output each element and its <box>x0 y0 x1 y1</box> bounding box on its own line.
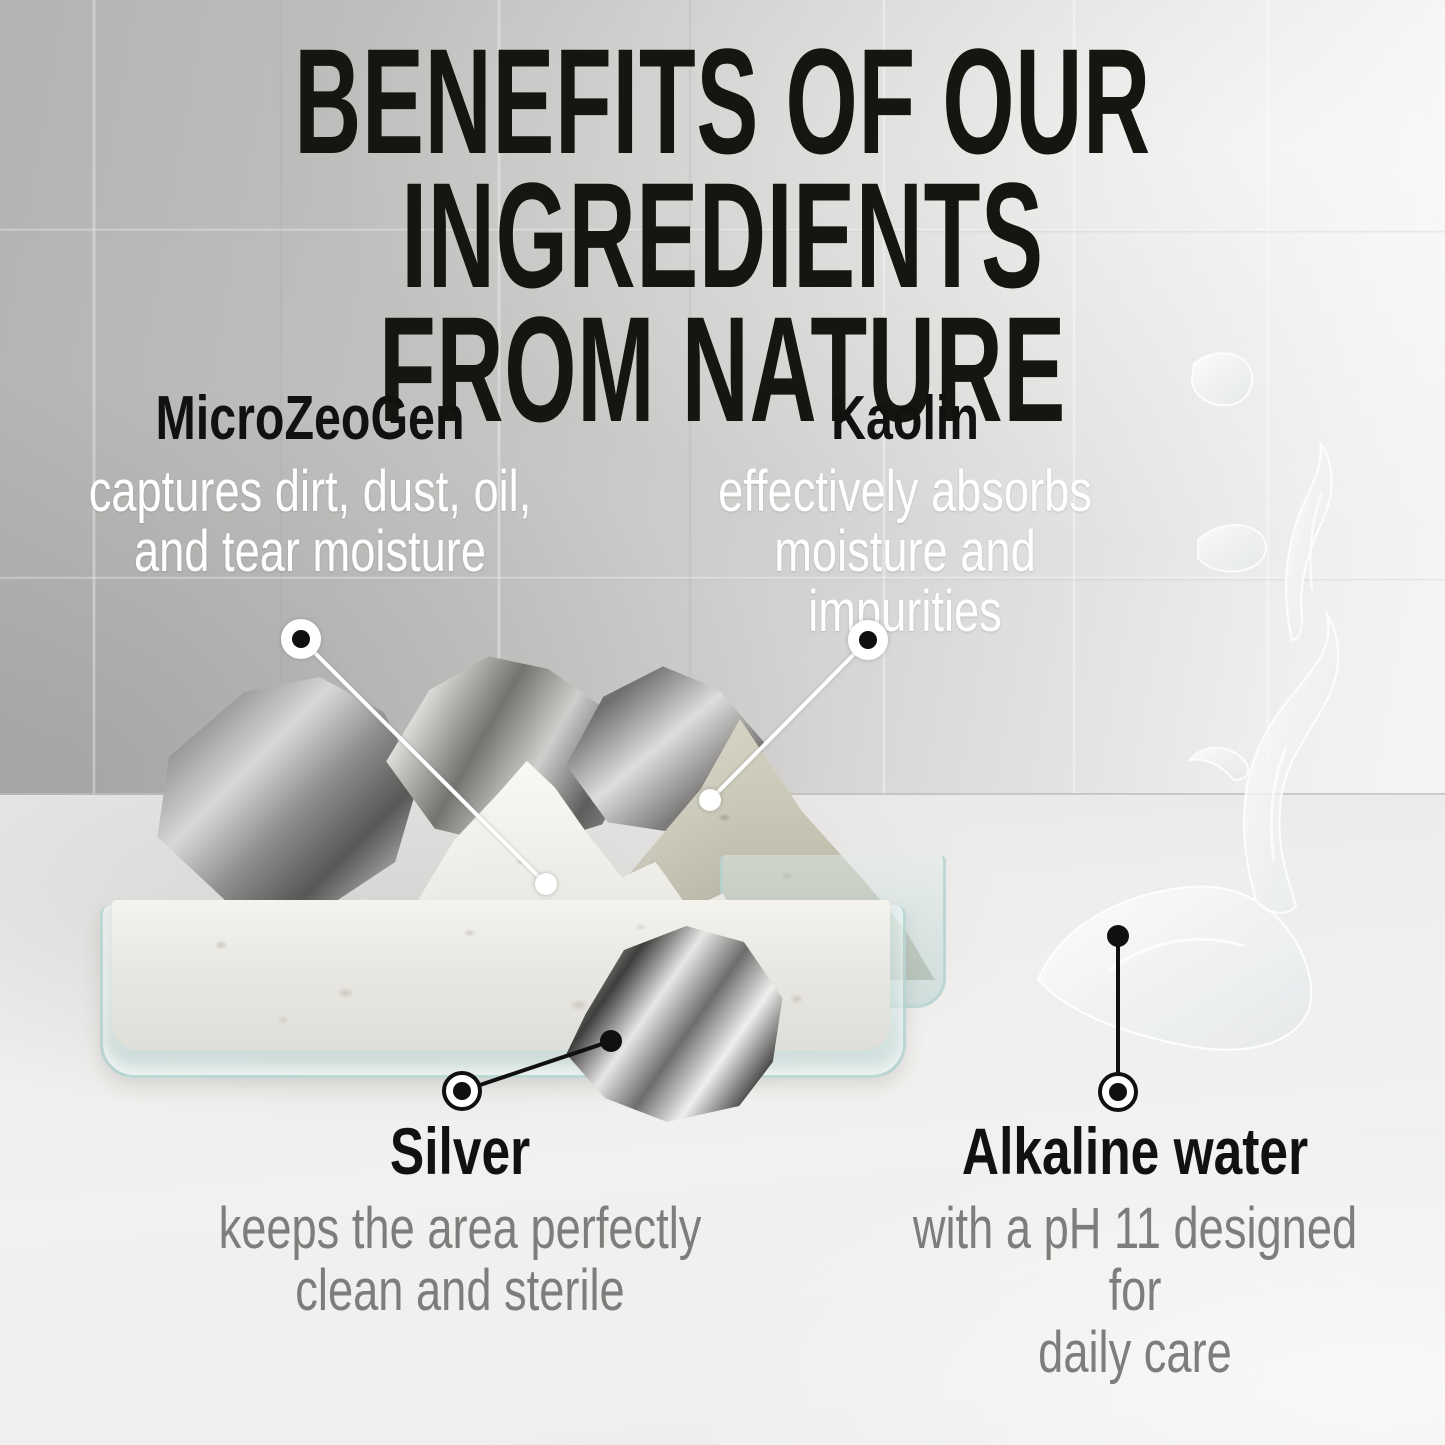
ingredient-name-silver: Silver <box>218 1118 702 1184</box>
ingredient-description-microzeogen: captures dirt, dust, oil, and tear moist… <box>68 462 552 582</box>
ingredient-description-kaolin: effectively absorbs moisture and impurit… <box>683 462 1128 642</box>
page-title: BENEFITS OF OUR INGREDIENTS FROM NATURE <box>0 34 1445 304</box>
ingredient-description-alkaline-water: with a pH 11 designed for daily care <box>893 1198 1377 1384</box>
ingredient-name-kaolin: Kaolin <box>683 388 1128 450</box>
ingredient-card-kaolin: Kaolin effectively absorbs moisture and … <box>620 388 1190 642</box>
ingredient-card-alkaline-water: Alkaline water with a pH 11 designed for… <box>825 1118 1445 1384</box>
ingredient-card-silver: Silver keeps the area perfectly clean an… <box>150 1118 770 1322</box>
ingredient-description-silver: keeps the area perfectly clean and steri… <box>218 1198 702 1322</box>
ingredient-name-microzeogen: MicroZeoGen <box>68 388 552 450</box>
infographic-canvas: BENEFITS OF OUR INGREDIENTS FROM NATURE … <box>0 0 1445 1445</box>
ingredient-card-microzeogen: MicroZeoGen captures dirt, dust, oil, an… <box>0 388 620 582</box>
page-title-text: BENEFITS OF OUR INGREDIENTS FROM NATURE <box>275 34 1171 436</box>
ingredient-name-alkaline-water: Alkaline water <box>893 1118 1377 1184</box>
